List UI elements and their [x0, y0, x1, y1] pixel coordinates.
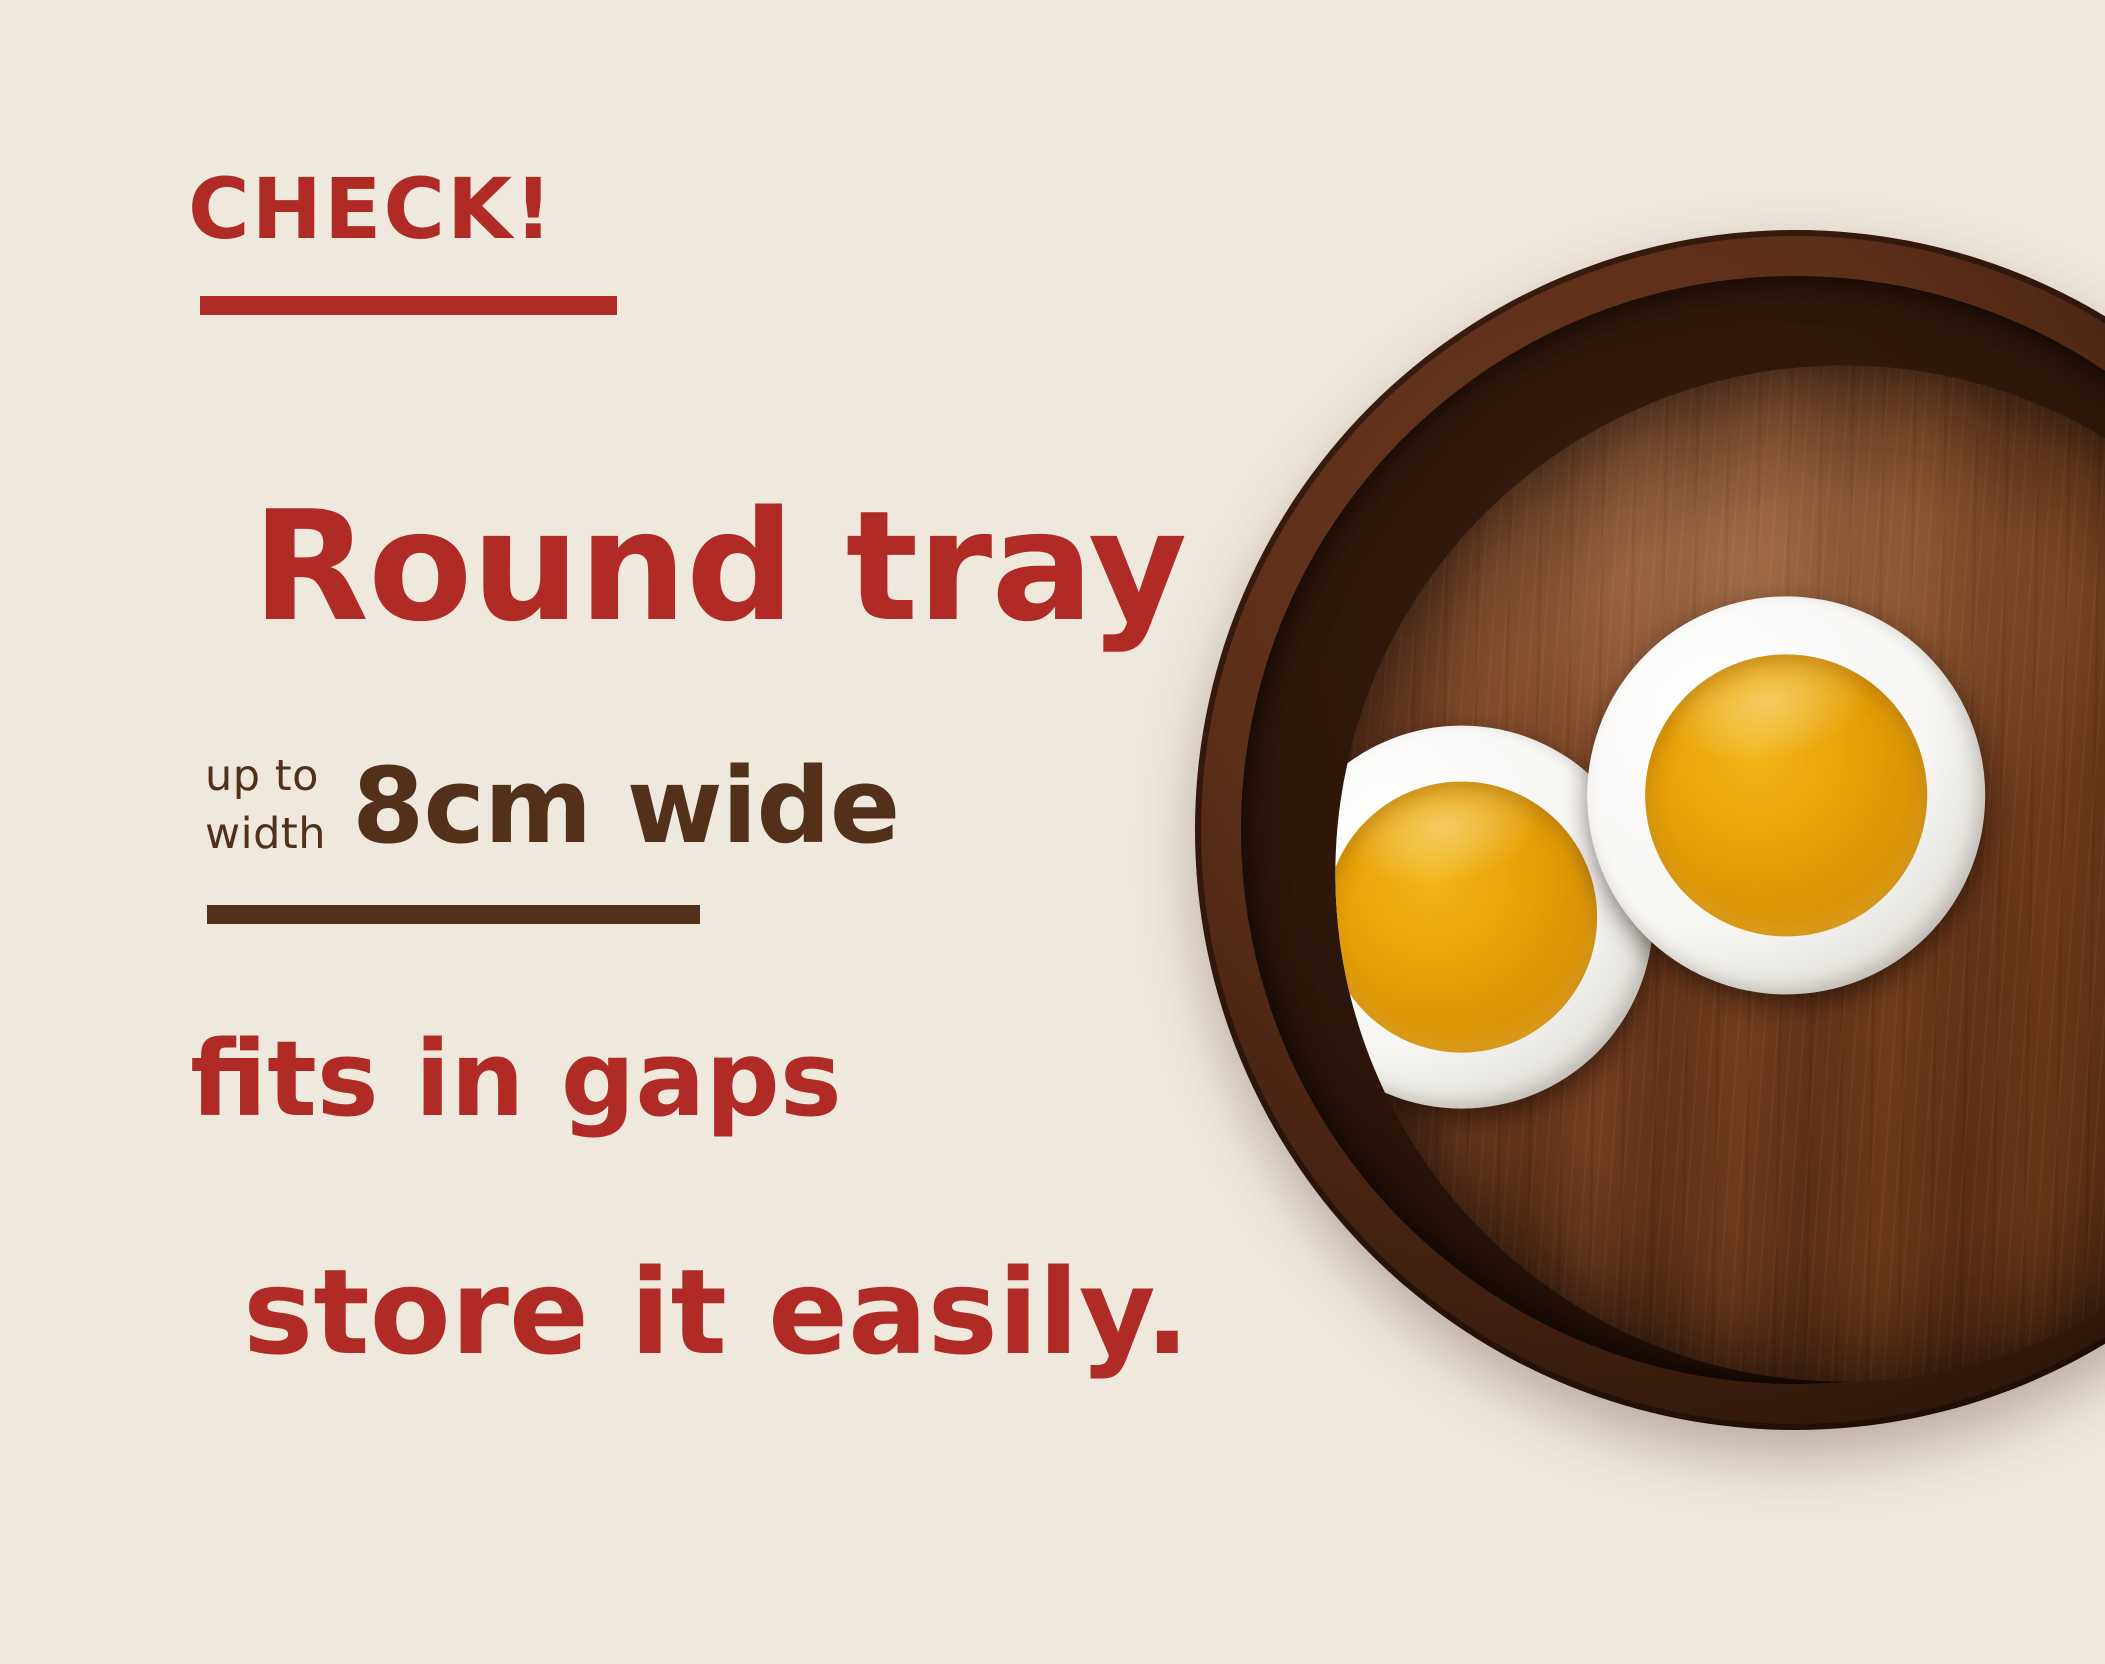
tea-cup-right	[1553, 562, 2020, 1029]
benefit-line-2: store it easily.	[243, 1243, 1190, 1381]
tray-outer-rim	[1164, 199, 2105, 1460]
spec-underline-rule	[207, 905, 700, 924]
tray-lip-highlight	[1164, 199, 2105, 1460]
benefit-line-1: fits in gaps	[190, 1018, 842, 1140]
cup-rim-left	[1309, 693, 1686, 1142]
spec-prefix-line-1: up to	[205, 748, 326, 806]
spec-width-row: up to width 8cm wide	[205, 745, 899, 867]
tea-liquid-left	[1309, 758, 1620, 1076]
tea-liquid-right	[1621, 630, 1952, 961]
product-photo-round-tray	[1195, 230, 2105, 1430]
tray-vignette	[1309, 340, 2105, 1408]
eyebrow-check-label: CHECK!	[188, 160, 554, 258]
spec-prefix-line-2: width	[205, 806, 326, 864]
tea-cup-left	[1309, 693, 1686, 1142]
page-title: Round tray	[252, 478, 1186, 655]
spec-width-value: 8cm wide	[352, 745, 899, 867]
spec-prefix: up to width	[205, 748, 326, 863]
eyebrow-underline-rule	[200, 296, 617, 315]
tray-inner-ring	[1213, 248, 2105, 1412]
tray-sheen	[1309, 340, 2105, 1408]
cup-rim-right	[1553, 562, 2020, 1029]
tray-wood-surface	[1309, 340, 2105, 1408]
wood-grain-texture	[1309, 340, 2105, 1408]
promo-banner: CHECK! Round tray up to width 8cm wide f…	[0, 0, 2105, 1664]
